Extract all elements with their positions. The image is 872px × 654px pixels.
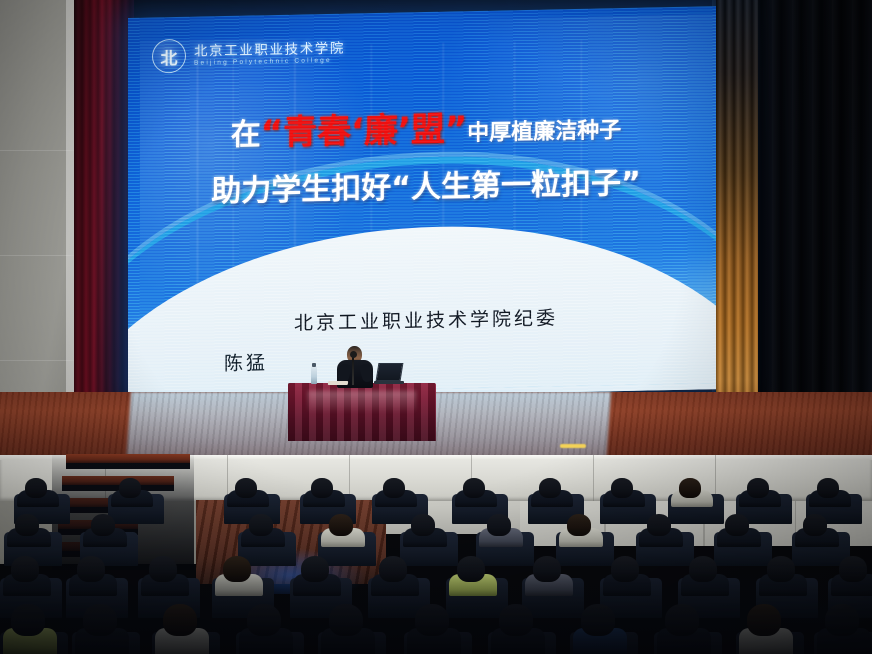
audience-member-head	[803, 514, 827, 536]
microphone-head-icon	[350, 351, 357, 358]
audience-member-head	[725, 514, 749, 536]
audience-member-head	[311, 478, 333, 498]
logo-name-cn: 北京工业职业技术学院	[194, 41, 345, 58]
led-presentation-screen[interactable]: 北 北京工业职业技术学院 Beijing Polytechnic College…	[128, 6, 724, 401]
audience-member-head	[499, 604, 533, 636]
audience-member-head	[839, 556, 867, 582]
audience-member-head	[817, 478, 839, 498]
college-emblem-icon: 北	[152, 39, 186, 74]
audience-member-head	[747, 604, 781, 636]
audience-member-head	[249, 514, 273, 536]
audience-seating	[0, 470, 872, 654]
slide-speaker-name: 陈猛	[224, 348, 268, 376]
audience-member-head	[411, 514, 435, 536]
audience-member-head	[825, 604, 859, 636]
audience-member-head	[25, 478, 47, 498]
water-bottle	[311, 366, 317, 384]
laptop-screen	[376, 363, 404, 381]
audience-member-head	[767, 556, 795, 582]
audience-member-head	[533, 556, 561, 582]
audience-member-head	[665, 604, 699, 636]
stage-curtain-right-gold	[716, 0, 758, 452]
laptop-base	[374, 381, 404, 384]
table-highlight	[308, 391, 416, 413]
audience-member-head	[747, 478, 769, 498]
audience-member-head	[415, 604, 449, 636]
logo-text-block: 北京工业职业技术学院 Beijing Polytechnic College	[194, 41, 345, 67]
audience-member-head	[247, 604, 281, 636]
title-quoted-highlight: “青春‘廉’盟”	[261, 109, 468, 153]
title-prefix: 在	[231, 117, 261, 153]
audience-member-head	[581, 604, 615, 636]
audience-member-head	[83, 604, 117, 636]
title-suffix: 中厚植廉洁种子	[467, 118, 621, 146]
audience-member-head	[15, 514, 39, 536]
audience-member-head	[689, 556, 717, 582]
audience-member-head	[567, 514, 591, 536]
audience-member-head	[223, 556, 251, 582]
microphone-stand	[352, 355, 354, 385]
audience-member-head	[457, 556, 485, 582]
audience-member-head	[149, 556, 177, 582]
bottle-cap	[312, 363, 316, 367]
audience-member-head	[539, 478, 561, 498]
audience-member-head	[163, 604, 197, 636]
audience-member-head	[329, 514, 353, 536]
audience-member-head	[611, 556, 639, 582]
slide-institution-logo: 北 北京工业职业技术学院 Beijing Polytechnic College	[152, 36, 345, 74]
audience-member-head	[463, 478, 485, 498]
audience-member-head	[329, 604, 363, 636]
papers-on-table	[328, 381, 349, 385]
audience-member-head	[119, 478, 141, 498]
logo-name-en: Beijing Polytechnic College	[194, 57, 345, 67]
wall-seam	[0, 360, 76, 361]
audience-member-head	[11, 556, 39, 582]
audience-member-head	[91, 514, 115, 536]
stair-step	[66, 454, 190, 463]
audience-member-head	[383, 478, 405, 498]
audience-member-head	[611, 478, 633, 498]
audience-member-head	[77, 556, 105, 582]
wall-seam	[0, 255, 76, 256]
presentation-table	[288, 383, 436, 441]
slide-title-block: 在“青春‘廉’盟”中厚植廉洁种子 助力学生扣好“人生第一粒扣子”	[128, 104, 724, 212]
audience-member-head	[679, 478, 701, 498]
audience-member-head	[487, 514, 511, 536]
audience-member-head	[647, 514, 671, 536]
audience-member-head	[235, 478, 257, 498]
stage-floor-light-marker	[560, 444, 586, 448]
auditorium-scene: 北 北京工业职业技术学院 Beijing Polytechnic College…	[0, 0, 872, 654]
audience-member-head	[379, 556, 407, 582]
audience-member-head	[301, 556, 329, 582]
laptop	[374, 363, 402, 384]
audience-member-head	[11, 604, 45, 636]
wall-seam	[0, 150, 76, 151]
